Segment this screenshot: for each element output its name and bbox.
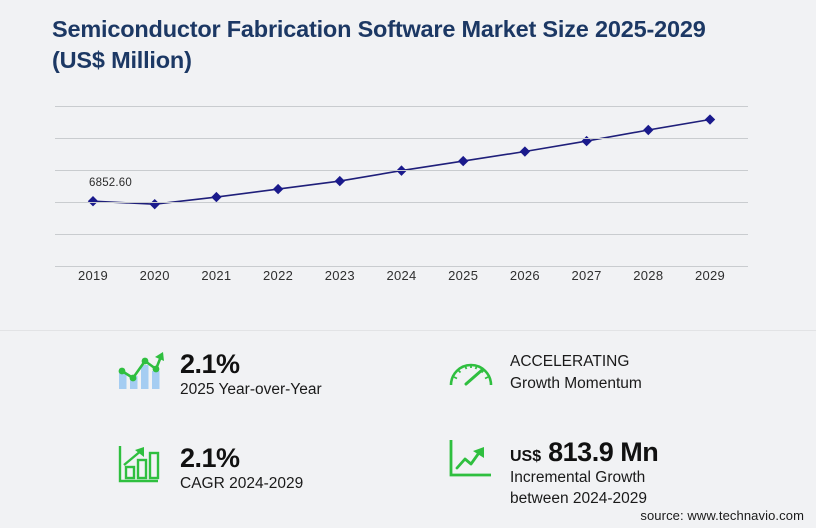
kpi-amount-incremental: 813.9 Mn (548, 437, 658, 467)
page-title: Semiconductor Fabrication Software Marke… (52, 14, 752, 77)
x-axis-labels: 2019202020212022202320242025202620272028… (55, 268, 748, 294)
kpi-card-momentum: ACCELERATING Growth Momentum (446, 351, 642, 398)
kpi-value-yoy: 2.1% (180, 349, 322, 380)
kpi-value-momentum: ACCELERATING (510, 351, 642, 373)
x-axis-tick-label: 2027 (572, 268, 602, 283)
x-axis-tick-label: 2029 (695, 268, 725, 283)
gridline (55, 266, 748, 267)
data-point-marker (273, 184, 283, 194)
data-point-marker (458, 156, 468, 166)
x-axis-tick-label: 2023 (325, 268, 355, 283)
kpi-value-incremental: US$ 813.9 Mn (510, 437, 658, 468)
gridline (55, 202, 748, 203)
kpi-card-incremental: US$ 813.9 Mn Incremental Growth between … (446, 437, 658, 510)
kpi-unit-incremental: US$ (510, 448, 541, 465)
gridline (55, 234, 748, 235)
kpi-card-yoy: 2.1% 2025 Year-over-Year (116, 349, 322, 401)
gridline (55, 106, 748, 107)
trend-arrow-icon (446, 437, 496, 484)
data-point-marker (150, 199, 160, 209)
x-axis-tick-label: 2028 (633, 268, 663, 283)
data-point-marker (520, 146, 530, 156)
kpi-label-incremental-line1: Incremental Growth (510, 468, 658, 489)
data-point-marker (643, 125, 653, 135)
kpi-label-incremental-line2: between 2024-2029 (510, 489, 658, 510)
kpi-label-momentum: Growth Momentum (510, 373, 642, 395)
x-axis-tick-label: 2026 (510, 268, 540, 283)
data-point-marker (211, 192, 221, 202)
chart-plot-area: 6852.60 (55, 106, 748, 266)
x-axis-tick-label: 2019 (78, 268, 108, 283)
gridline (55, 170, 748, 171)
x-axis-tick-label: 2024 (386, 268, 416, 283)
chart-container: 6852.60 20192020202120222023202420252026… (0, 88, 816, 288)
series-markers (88, 114, 715, 209)
line-chart-svg (55, 106, 748, 266)
first-point-data-label: 6852.60 (89, 177, 132, 189)
speedometer-icon (446, 351, 496, 398)
bar-line-growth-icon (116, 349, 166, 396)
kpi-section: 2.1% 2025 Year-over-Year 2.1% CAGR 2024-… (0, 331, 816, 506)
bar-chart-arrow-icon (116, 443, 166, 490)
source-attribution: source: www.technavio.com (640, 508, 804, 523)
kpi-label-yoy: 2025 Year-over-Year (180, 380, 322, 401)
data-point-marker (705, 114, 715, 124)
x-axis-tick-label: 2020 (140, 268, 170, 283)
gridline (55, 138, 748, 139)
data-point-marker (335, 176, 345, 186)
series-line (93, 120, 710, 205)
kpi-card-cagr: 2.1% CAGR 2024-2029 (116, 443, 303, 495)
kpi-label-cagr: CAGR 2024-2029 (180, 474, 303, 495)
x-axis-tick-label: 2025 (448, 268, 478, 283)
x-axis-tick-label: 2022 (263, 268, 293, 283)
x-axis-tick-label: 2021 (201, 268, 231, 283)
kpi-value-cagr: 2.1% (180, 443, 303, 474)
